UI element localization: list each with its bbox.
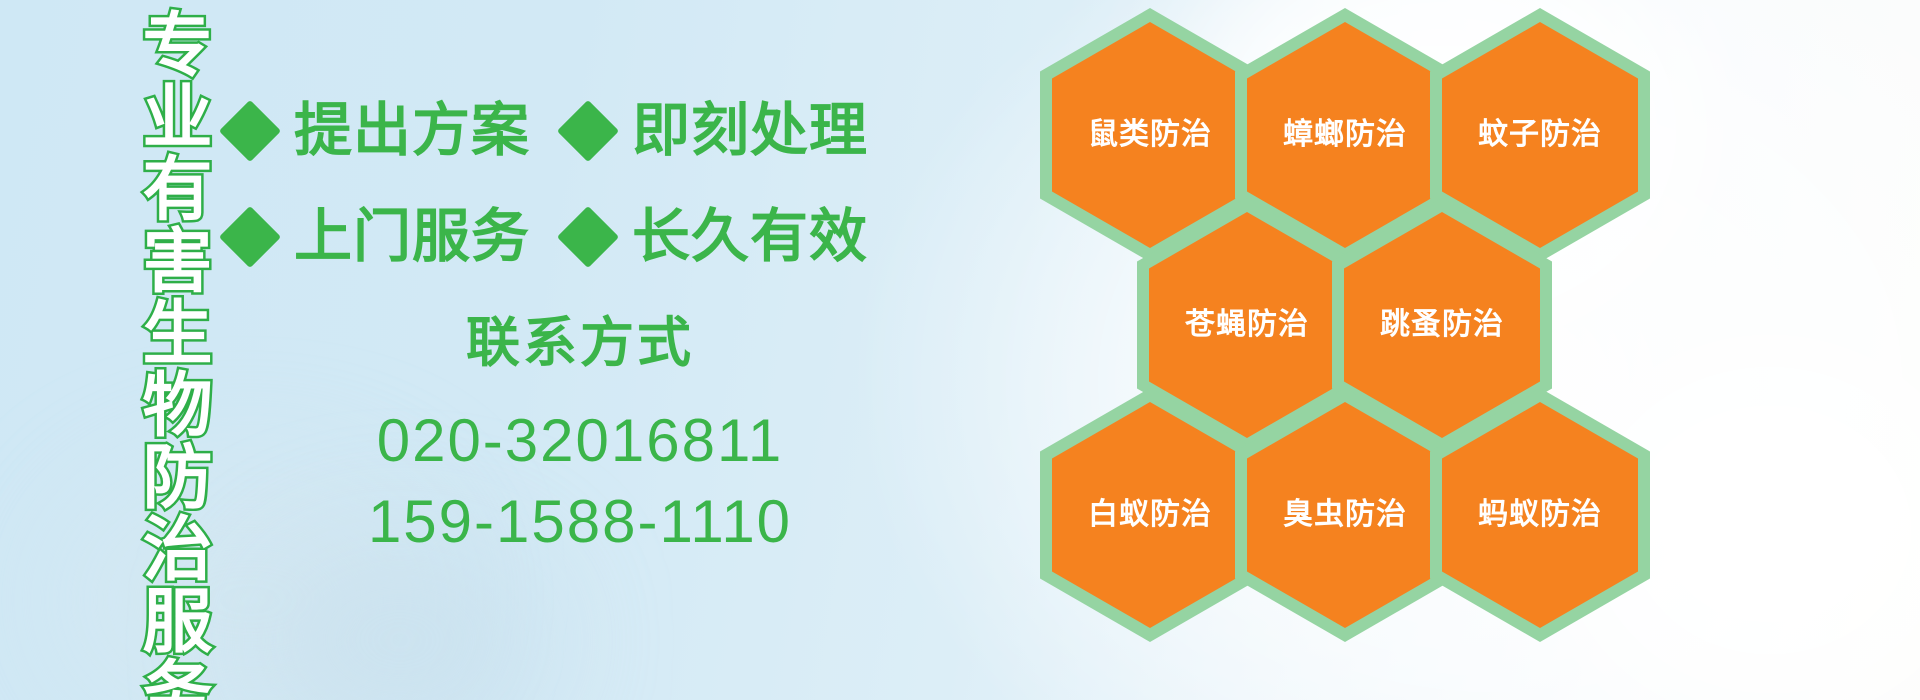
diamond-bullet-icon — [219, 206, 281, 268]
service-hex-label: 苍蝇防治 — [1185, 310, 1309, 340]
service-hex-fill: 蚊子防治 — [1442, 22, 1638, 248]
service-hex-fill: 白蚁防治 — [1052, 402, 1248, 628]
feature-list: 提出方案 即刻处理 上门服务 长久有效 — [228, 78, 868, 290]
service-hex-label: 白蚁防治 — [1088, 500, 1212, 530]
service-hex-fill: 蚂蚁防治 — [1442, 402, 1638, 628]
feature-item-longlasting: 长久有效 — [566, 208, 868, 266]
feature-label: 提出方案 — [294, 102, 530, 160]
feature-item-proposal: 提出方案 — [228, 102, 530, 160]
feature-row: 提出方案 即刻处理 — [228, 78, 868, 184]
diamond-bullet-icon — [557, 206, 619, 268]
service-hex-label: 蚂蚁防治 — [1478, 500, 1602, 530]
service-hex-fill: 鼠类防治 — [1052, 22, 1248, 248]
contact-block: 联系方式 020-32016811 159-1588-1110 — [300, 310, 860, 562]
service-hex-fill: 苍蝇防治 — [1149, 212, 1345, 438]
vertical-headline: 专业有害生物防治服务 — [104, 8, 208, 698]
feature-item-onsite: 上门服务 — [228, 208, 530, 266]
feature-label: 长久有效 — [632, 208, 868, 266]
contact-title: 联系方式 — [300, 310, 860, 378]
service-hex-label: 臭虫防治 — [1283, 500, 1407, 530]
diamond-bullet-icon — [557, 100, 619, 162]
feature-row: 上门服务 长久有效 — [228, 184, 868, 290]
promo-banner: 专业有害生物防治服务 提出方案 即刻处理 上门服务 长久有效 联 — [0, 0, 1920, 700]
background-glow-bottom — [250, 540, 550, 700]
feature-label: 即刻处理 — [632, 102, 868, 160]
service-hex-label: 跳蚤防治 — [1380, 310, 1504, 340]
service-honeycomb: 鼠类防治 蟑螂防治 蚊子防治 苍蝇防治 跳蚤防治 白蚁防治 — [1040, 0, 1680, 700]
feature-item-immediate: 即刻处理 — [566, 102, 868, 160]
service-hex-fill: 臭虫防治 — [1247, 402, 1443, 628]
service-hex-fill: 跳蚤防治 — [1344, 212, 1540, 438]
service-hex-label: 蟑螂防治 — [1283, 120, 1407, 150]
service-hex-fill: 蟑螂防治 — [1247, 22, 1443, 248]
diamond-bullet-icon — [219, 100, 281, 162]
service-hex-label: 蚊子防治 — [1478, 120, 1602, 150]
feature-label: 上门服务 — [294, 208, 530, 266]
phone-landline[interactable]: 020-32016811 — [300, 400, 860, 481]
phone-mobile[interactable]: 159-1588-1110 — [300, 481, 860, 562]
service-hex-label: 鼠类防治 — [1088, 120, 1212, 150]
